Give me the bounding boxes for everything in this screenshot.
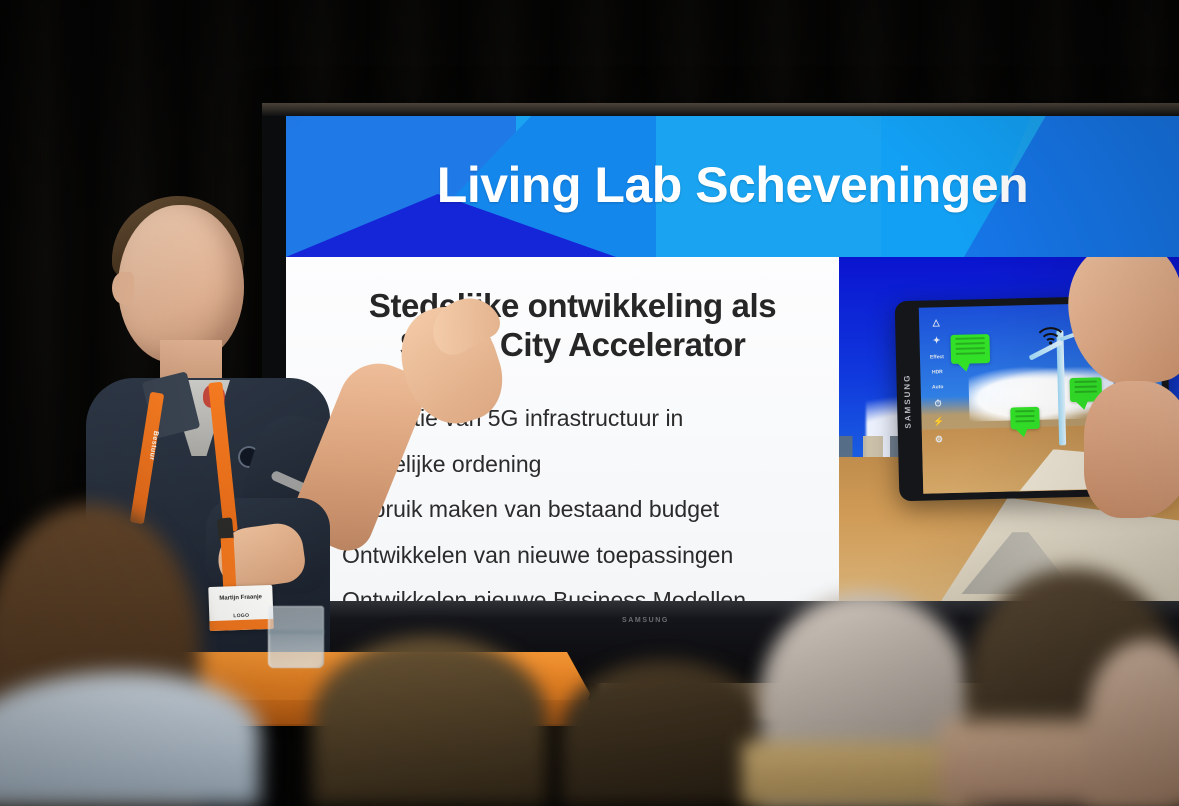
audience-head-2 bbox=[312, 636, 548, 806]
chevron-up-icon[interactable]: △ bbox=[932, 319, 939, 328]
wifi-signal-icon bbox=[1037, 327, 1063, 346]
phone-brand-logo: SAMSUNG bbox=[902, 374, 912, 429]
hdr-mode-label: Auto bbox=[932, 385, 944, 391]
audience-head-3 bbox=[560, 660, 770, 806]
badge-name-text: Martijn Fraanje bbox=[209, 594, 273, 602]
settings-gear-icon[interactable]: ⚙ bbox=[935, 436, 943, 445]
hand-holding-phone-bottom bbox=[1084, 381, 1179, 519]
effect-icon[interactable]: ✦ bbox=[932, 337, 940, 346]
presenter-ear bbox=[112, 272, 134, 304]
effect-label: Effect bbox=[930, 355, 944, 361]
water-level-line bbox=[268, 630, 324, 634]
audience-shoulders-1 bbox=[0, 672, 260, 806]
name-badge: Martijn Fraanje LOGO bbox=[208, 585, 273, 631]
hdr-label[interactable]: HDR bbox=[932, 370, 943, 376]
camera-side-toolbar[interactable]: △ ✦ Effect HDR Auto ⏱ ⚡ ⚙ bbox=[925, 318, 951, 482]
presentation-photo-scene: Living Lab Scheveningen Stedelijke ontwi… bbox=[0, 0, 1179, 806]
lanyard-drop bbox=[221, 538, 237, 591]
flash-icon[interactable]: ⚡ bbox=[933, 418, 944, 427]
tv-brand-logo: SAMSUNG bbox=[622, 617, 669, 624]
ar-callout-3 bbox=[1010, 407, 1039, 430]
ar-callout-1 bbox=[951, 334, 990, 365]
timer-icon[interactable]: ⏱ bbox=[934, 400, 941, 409]
slide-ar-photo: SAMSUNG bbox=[839, 257, 1179, 601]
water-glass bbox=[268, 606, 324, 668]
